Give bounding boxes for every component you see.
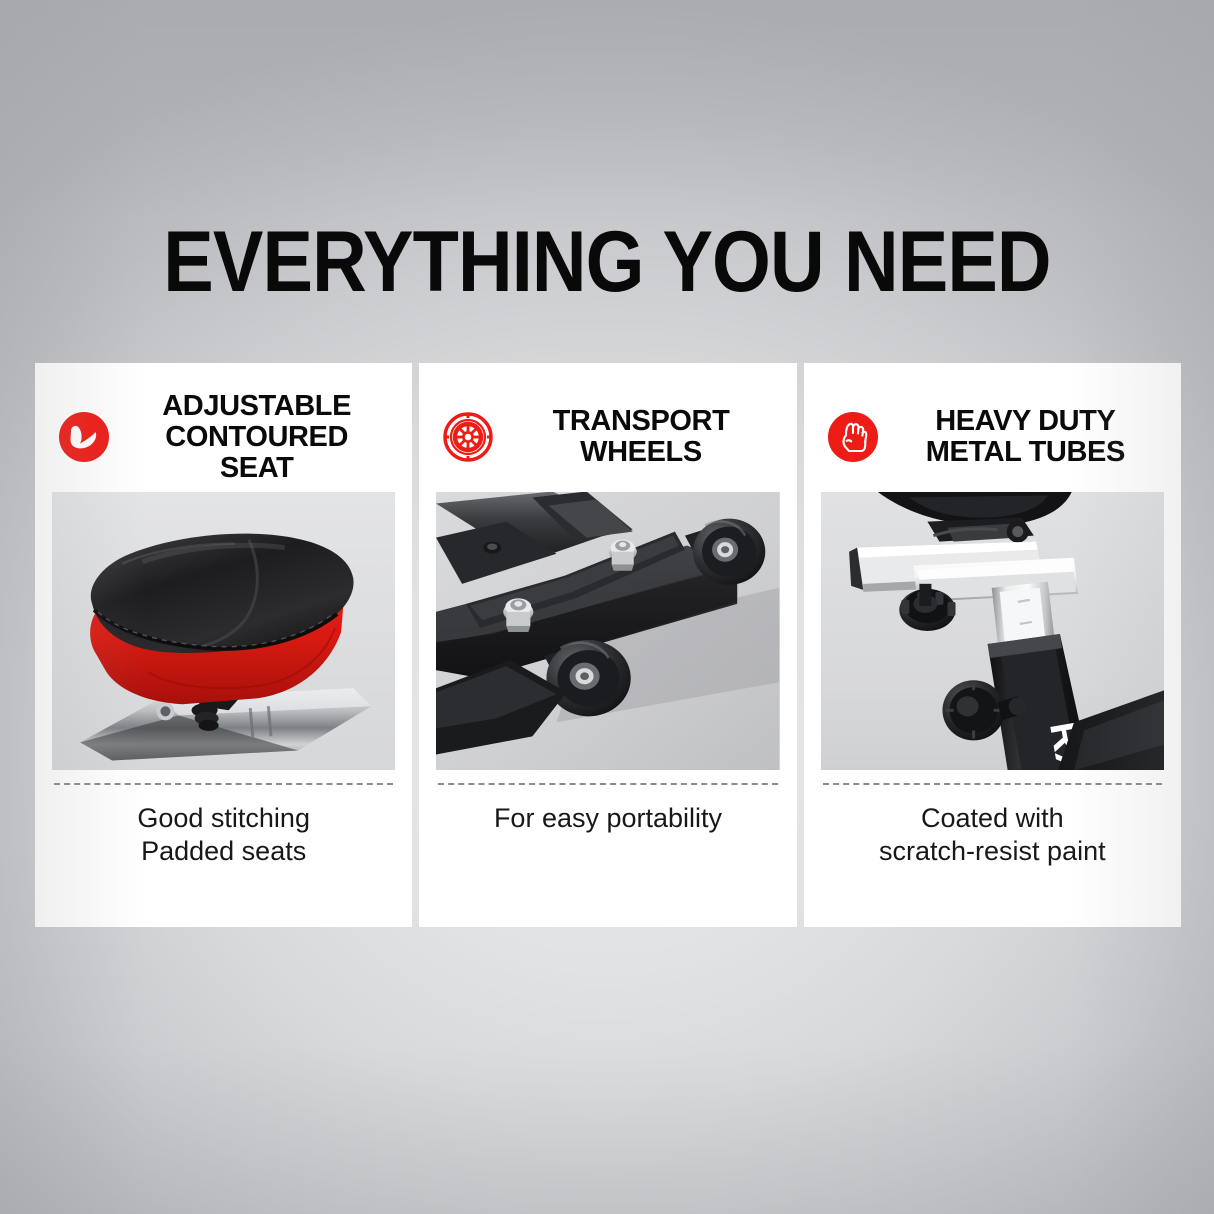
bike-saddle-photo — [52, 492, 395, 770]
card-title-line: SEAT — [122, 453, 391, 484]
card-title-line: HEAVY DUTY — [891, 406, 1160, 437]
card-divider — [438, 783, 777, 785]
card-title-line: TRANSPORT — [506, 406, 775, 437]
card-title-line: CONTOURED — [122, 422, 391, 453]
feature-card-row: ADJUSTABLE CONTOURED SEAT — [35, 363, 1181, 927]
card-title-line: ADJUSTABLE — [122, 391, 391, 422]
card-caption: Good stitching Padded seats — [52, 802, 395, 868]
caption-line: Good stitching — [52, 802, 395, 835]
infographic-canvas: EVERYTHING YOU NEED ADJUSTABLE CONTOURED… — [0, 0, 1214, 1214]
feature-card-adjustable-seat[interactable]: ADJUSTABLE CONTOURED SEAT — [35, 363, 412, 927]
card-title: HEAVY DUTY METAL TUBES — [891, 406, 1164, 468]
card-divider — [823, 783, 1162, 785]
card-header: TRANSPORT WHEELS — [436, 382, 779, 492]
card-caption: Coated with scratch-resist paint — [821, 802, 1164, 868]
feature-card-heavy-duty-tubes[interactable]: HEAVY DUTY METAL TUBES — [804, 363, 1181, 927]
card-header: ADJUSTABLE CONTOURED SEAT — [52, 382, 395, 492]
card-title-line: WHEELS — [506, 437, 775, 468]
feature-card-transport-wheels[interactable]: TRANSPORT WHEELS — [419, 363, 796, 927]
card-header: HEAVY DUTY METAL TUBES — [821, 382, 1164, 492]
card-title: TRANSPORT WHEELS — [506, 406, 779, 468]
metal-tube-frame-photo: RX- — [821, 492, 1164, 770]
caption-line: For easy portability — [436, 802, 779, 835]
page-title: EVERYTHING YOU NEED — [73, 216, 1141, 308]
transport-wheels-photo — [436, 492, 779, 770]
caption-line: Padded seats — [52, 835, 395, 868]
caption-line: scratch-resist paint — [821, 835, 1164, 868]
card-title-line: METAL TUBES — [891, 437, 1160, 468]
card-divider — [54, 783, 393, 785]
wheel-icon — [442, 411, 494, 463]
caption-line: Coated with — [821, 802, 1164, 835]
bike-seat-icon — [58, 411, 110, 463]
card-title: ADJUSTABLE CONTOURED SEAT — [122, 391, 395, 484]
fist-icon — [827, 411, 879, 463]
card-caption: For easy portability — [436, 802, 779, 835]
